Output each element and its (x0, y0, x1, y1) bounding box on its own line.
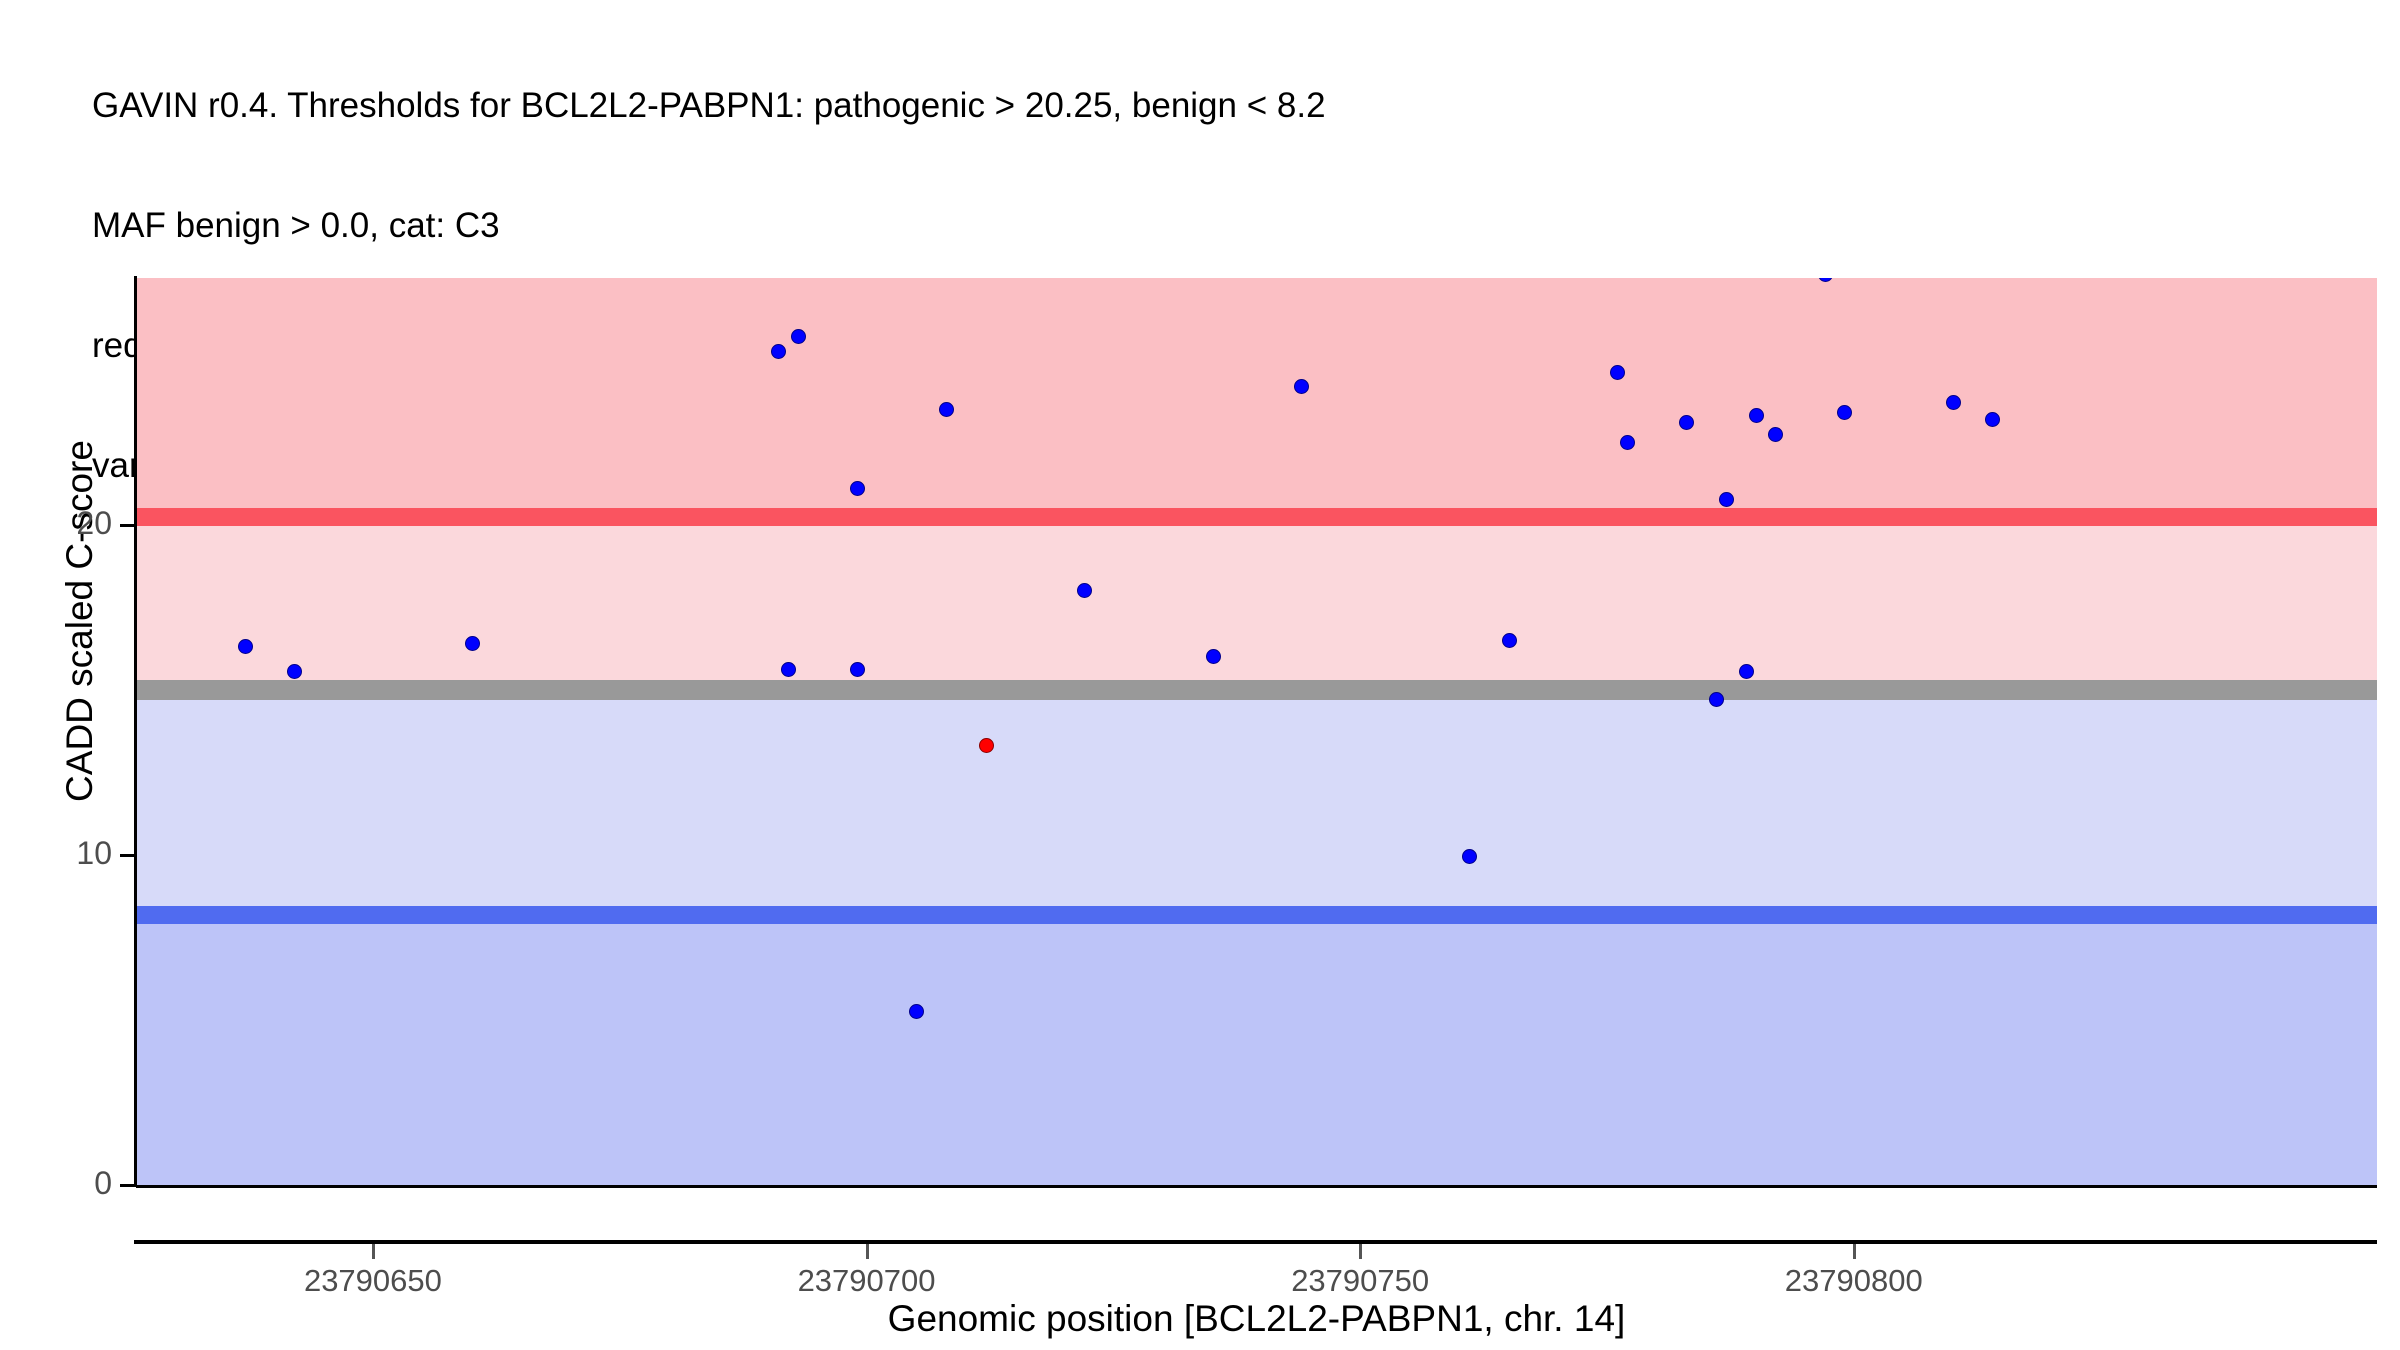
gnomad-variant-point (1739, 664, 1754, 679)
y-tick-label: 10 (42, 835, 112, 872)
band-vus-upper (136, 517, 2377, 690)
y-axis-title-wrap: CADD scaled C-score (0, 0, 1, 1)
gnomad-variant-point (1768, 427, 1783, 442)
gnomad-variant-point (1749, 408, 1764, 423)
pathogenic-threshold-line (136, 508, 2377, 526)
panel-bottom-line (136, 1185, 2377, 1188)
gnomad-variant-point (1502, 633, 1517, 648)
x-tick-label: 23790800 (1724, 1263, 1984, 1299)
plot-panel (136, 278, 2377, 1185)
y-tick-label: 20 (42, 505, 112, 542)
y-tick-label: 0 (42, 1165, 112, 1202)
band-pathogenic (136, 278, 2377, 517)
band-benign (136, 915, 2377, 1185)
gnomad-variant-point (1206, 649, 1221, 664)
clinvar-variant-point (979, 738, 994, 753)
benign-threshold-line (136, 906, 2377, 924)
gnomad-variant-point (465, 636, 480, 651)
gnomad-variant-point (939, 402, 954, 417)
title-line-2: MAF benign > 0.0, cat: C3 (92, 206, 2372, 246)
x-tick-label: 23790700 (737, 1263, 997, 1299)
x-axis-line (134, 1240, 2377, 1244)
plot-root: GAVIN r0.4. Thresholds for BCL2L2-PABPN1… (0, 0, 2400, 1350)
x-tick-label: 23790750 (1230, 1263, 1490, 1299)
gnomad-variant-point (1462, 849, 1477, 864)
band-vus-lower (136, 690, 2377, 914)
x-tick-label: 23790650 (243, 1263, 503, 1299)
y-tick-0 (120, 1184, 134, 1187)
y-tick-10 (120, 854, 134, 857)
gnomad-variant-point (1709, 692, 1724, 707)
gnomad-variant-point (1620, 435, 1635, 450)
x-tick-23790650 (372, 1244, 375, 1259)
y-tick-20 (120, 524, 134, 527)
x-tick-23790700 (866, 1244, 869, 1259)
x-tick-23790800 (1853, 1244, 1856, 1259)
y-axis-line (134, 276, 137, 1187)
y-axis-title: CADD scaled C-score (59, 241, 101, 1001)
fallback-threshold-line (136, 680, 2377, 700)
gnomad-variant-point (850, 481, 865, 496)
x-tick-23790750 (1359, 1244, 1362, 1259)
title-line-1: GAVIN r0.4. Thresholds for BCL2L2-PABPN1… (92, 86, 2372, 126)
x-axis-title: Genomic position [BCL2L2-PABPN1, chr. 14… (136, 1298, 2377, 1340)
